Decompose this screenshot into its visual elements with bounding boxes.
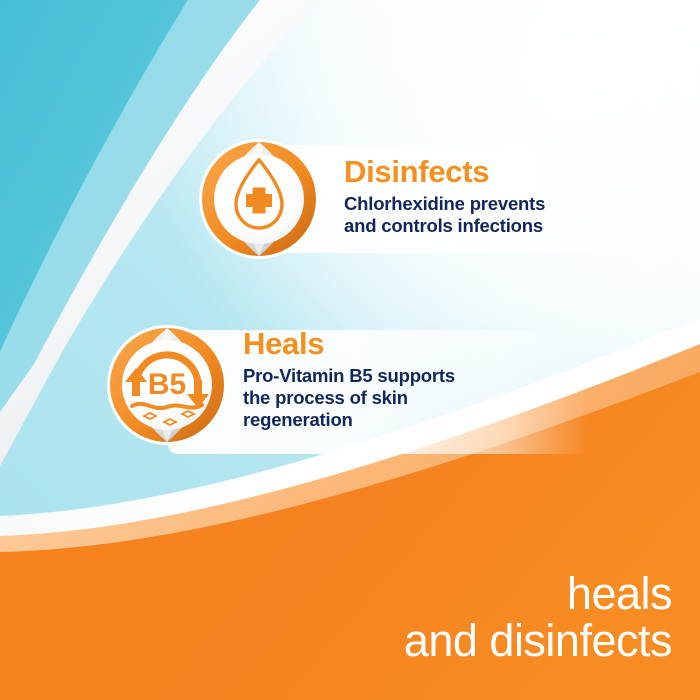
- feature-text-disinfects: Disinfects Chlorhexidine prevents and co…: [344, 156, 545, 237]
- b5-regeneration-icon: B5: [106, 324, 228, 446]
- b5-label: B5: [148, 368, 186, 401]
- feature-description-heals: Pro-Vitamin B5 supports the process of s…: [243, 365, 455, 430]
- feature-title-heals: Heals: [243, 328, 455, 359]
- tagline-line-2: and disinfects: [404, 617, 672, 664]
- feature-title-disinfects: Disinfects: [344, 156, 545, 187]
- poster-canvas: Disinfects Chlorhexidine prevents and co…: [0, 0, 700, 700]
- tagline: heals and disinfects: [404, 570, 672, 665]
- tagline-line-1: heals: [404, 570, 672, 617]
- feature-text-heals: Heals Pro-Vitamin B5 supports the proces…: [243, 328, 455, 430]
- droplet-cross-icon: [198, 138, 320, 260]
- feature-description-disinfects: Chlorhexidine prevents and controls infe…: [344, 193, 545, 237]
